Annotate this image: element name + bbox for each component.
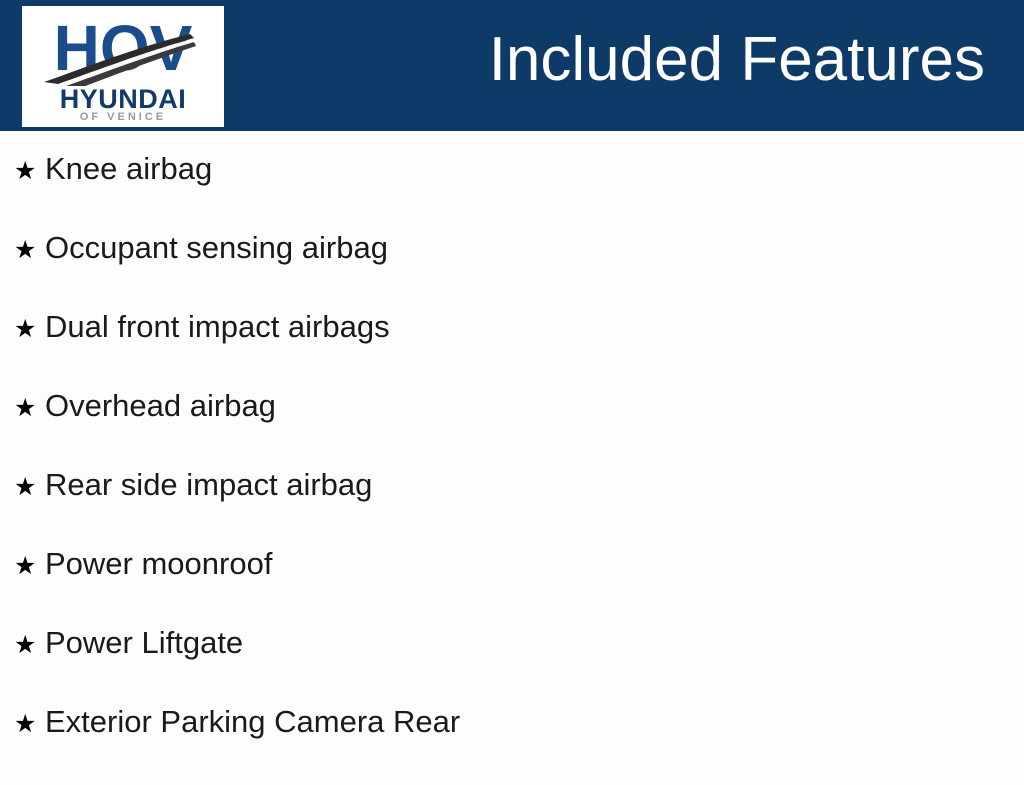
- dealer-logo: HOV HYUNDAI OF VENICE: [22, 6, 224, 127]
- list-item: ★ Occupant sensing airbag: [0, 232, 1024, 311]
- star-bullet-icon: ★: [14, 632, 45, 657]
- feature-label: Rear side impact airbag: [45, 469, 372, 500]
- list-item: ★ Dual front impact airbags: [0, 311, 1024, 390]
- star-bullet-icon: ★: [14, 474, 45, 499]
- page-title: Included Features: [489, 29, 985, 91]
- feature-label: Exterior Parking Camera Rear: [45, 706, 460, 737]
- hov-logo-mark: HOV: [22, 10, 224, 86]
- star-bullet-icon: ★: [14, 316, 45, 341]
- list-item: ★ Knee airbag: [0, 153, 1024, 232]
- list-item: ★ Power moonroof: [0, 548, 1024, 627]
- slide-header: HOV HYUNDAI OF VENICE Included Features: [0, 0, 1024, 131]
- feature-label: Dual front impact airbags: [45, 311, 390, 342]
- logo-brand-text: HYUNDAI: [22, 86, 224, 113]
- feature-label: Occupant sensing airbag: [45, 232, 388, 263]
- star-bullet-icon: ★: [14, 395, 45, 420]
- star-bullet-icon: ★: [14, 711, 45, 736]
- feature-label: Overhead airbag: [45, 390, 276, 421]
- list-item: ★ Overhead airbag: [0, 390, 1024, 469]
- feature-label: Power Liftgate: [45, 627, 243, 658]
- logo-location-text: OF VENICE: [22, 112, 224, 123]
- star-bullet-icon: ★: [14, 237, 45, 262]
- star-bullet-icon: ★: [14, 553, 45, 578]
- list-item: ★ Rear side impact airbag: [0, 469, 1024, 548]
- slide: HOV HYUNDAI OF VENICE Included Features …: [0, 0, 1024, 768]
- feature-label: Knee airbag: [45, 153, 212, 184]
- feature-label: Power moonroof: [45, 548, 272, 579]
- list-item: ★ Exterior Parking Camera Rear: [0, 706, 1024, 785]
- features-list: ★ Knee airbag ★ Occupant sensing airbag …: [0, 131, 1024, 785]
- list-item: ★ Power Liftgate: [0, 627, 1024, 706]
- star-bullet-icon: ★: [14, 158, 45, 183]
